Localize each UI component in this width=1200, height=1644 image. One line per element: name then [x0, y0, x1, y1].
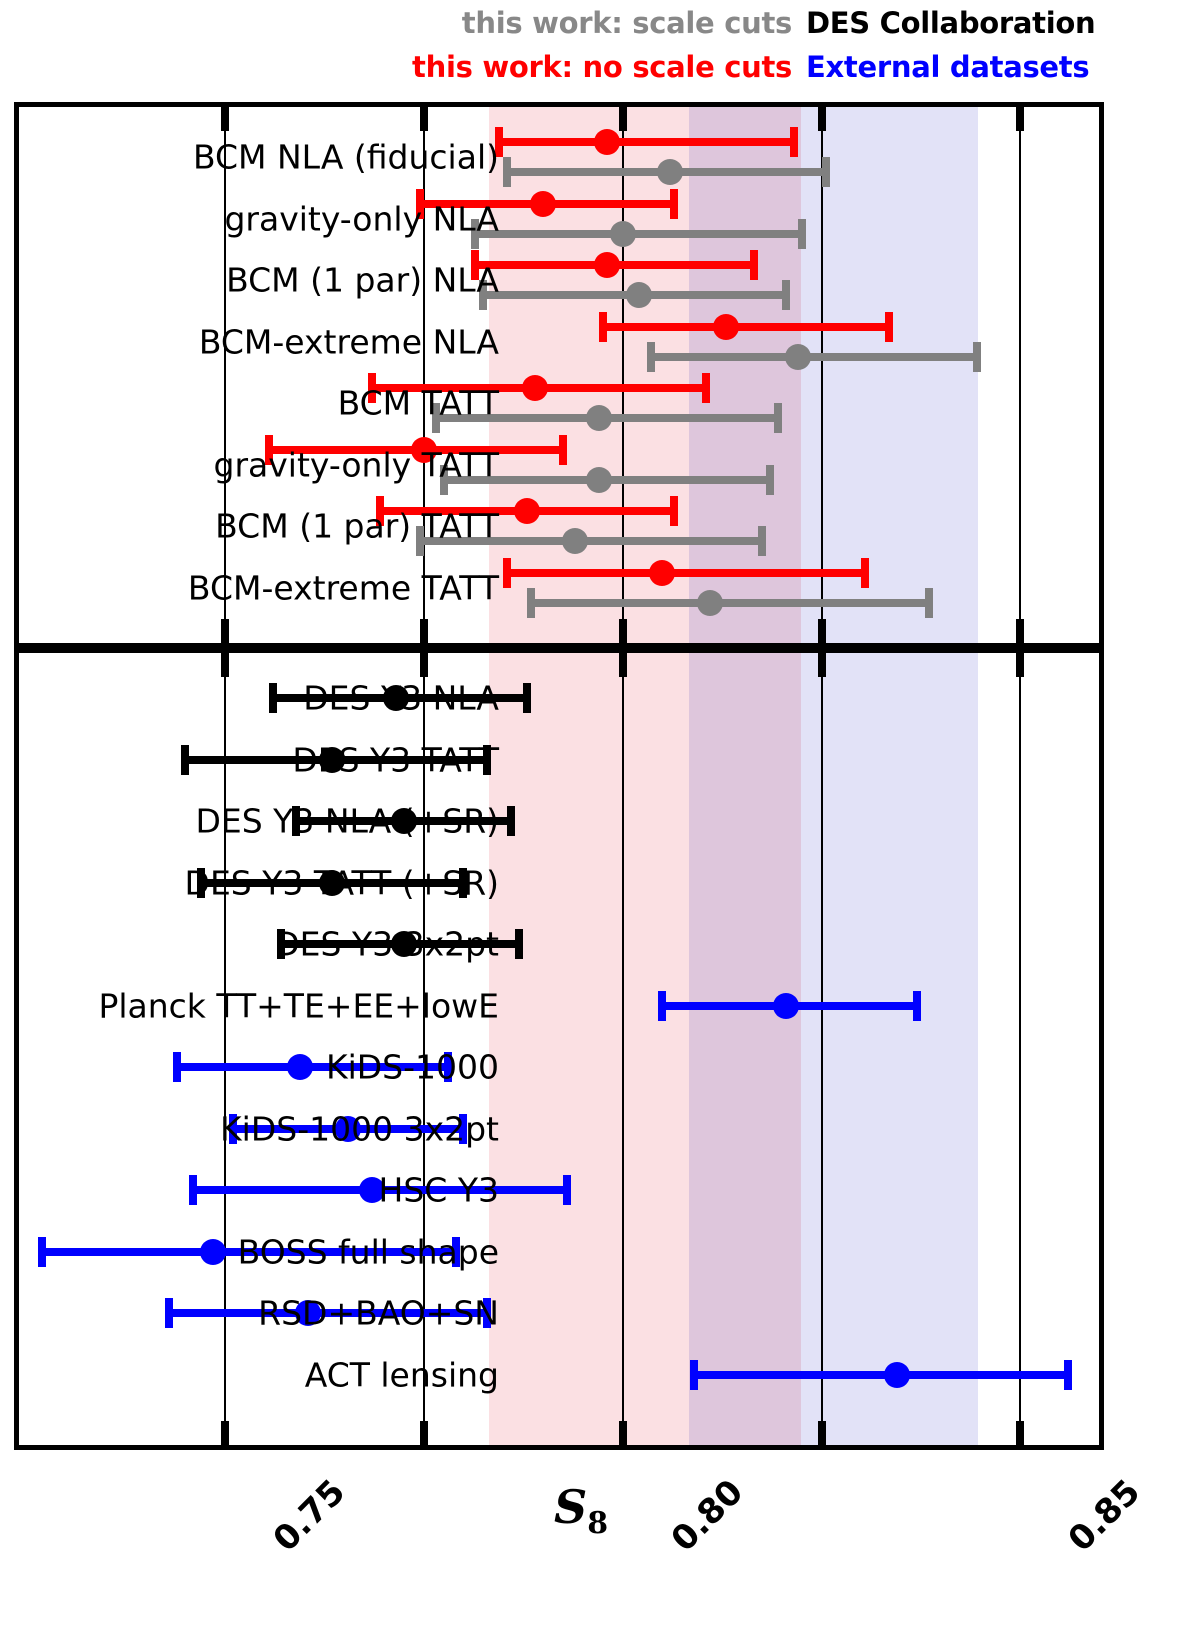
row-label-3: BCM-extreme NLA: [199, 322, 499, 361]
tick-0.775-bottom: [420, 619, 428, 643]
tick-0.8-bottom: [619, 1421, 627, 1445]
x-tick-label-0.80: 0.80: [663, 1472, 751, 1560]
tick-0.85-bottom: [1016, 619, 1024, 643]
x-axis-title-sub: 8: [587, 1506, 608, 1541]
errorbar-cap-low: [173, 1052, 181, 1082]
errorbar-cap-high: [559, 435, 567, 465]
tick-0.775-top: [420, 107, 428, 131]
data-point: [586, 405, 612, 431]
errorbar-cap-low: [527, 588, 535, 618]
row-label-lit-5: Planck TT+TE+EE+lowE: [98, 986, 499, 1025]
des-blue-band: [689, 653, 978, 1445]
errorbar-cap-low: [503, 157, 511, 187]
forest-plot-figure: BCM NLA (fiducial)gravity-only NLABCM (1…: [14, 102, 1104, 1450]
row-label-7: BCM-extreme TATT: [188, 568, 499, 607]
errorbar-cap-low: [189, 1175, 197, 1205]
tick-0.75-top: [221, 107, 229, 131]
tick-0.825-top: [818, 107, 826, 131]
errorbar-cap-low: [599, 312, 607, 342]
legend-external-datasets: External datasets: [806, 50, 1089, 84]
row-label-lit-0: DES Y3 NLA: [303, 679, 499, 718]
errorbar-cap-low: [690, 1360, 698, 1390]
errorbar-cap-high: [523, 683, 531, 713]
tick-0.85-bottom: [1016, 1421, 1024, 1445]
errorbar-cap-low: [165, 1298, 173, 1328]
tick-0.825-bottom: [818, 619, 826, 643]
row-label-lit-7: KiDS-1000 3x2pt: [220, 1109, 499, 1148]
errorbar-cap-high: [563, 1175, 571, 1205]
errorbar-cap-low: [647, 342, 655, 372]
row-label-2: BCM (1 par) NLA: [226, 261, 499, 300]
legend-this-work-scale-cuts: this work: scale cuts: [400, 6, 792, 40]
errorbar-line: [647, 353, 981, 361]
tick-0.775-top: [420, 653, 428, 677]
legend: this work: scale cuts this work: no scal…: [0, 0, 1200, 96]
errorbar-cap-high: [702, 373, 710, 403]
row-label-lit-9: BOSS full shape: [238, 1232, 499, 1271]
data-point: [200, 1239, 226, 1265]
tick-0.85-top: [1016, 653, 1024, 677]
errorbar-cap-high: [861, 558, 869, 588]
row-label-lit-6: KiDS-1000: [326, 1048, 499, 1087]
gridline-0.825: [821, 653, 823, 1445]
errorbar-cap-high: [758, 526, 766, 556]
tick-0.825-top: [818, 653, 826, 677]
errorbar-cap-low: [38, 1237, 46, 1267]
plot-surface-this-work: [19, 107, 1099, 643]
errorbar-cap-high: [750, 250, 758, 280]
errorbar-cap-high: [766, 465, 774, 495]
data-point: [594, 252, 620, 278]
row-label-lit-10: RSD+BAO+SN: [258, 1294, 499, 1333]
tick-0.75-bottom: [221, 619, 229, 643]
errorbar-line: [471, 230, 805, 238]
errorbar-cap-low: [269, 683, 277, 713]
legend-des-collaboration: DES Collaboration: [806, 6, 1095, 40]
row-label-0: BCM NLA (fiducial): [193, 138, 499, 177]
data-point: [530, 191, 556, 217]
x-tick-label-0.75: 0.75: [265, 1472, 353, 1560]
errorbar-line: [503, 569, 869, 577]
errorbar-cap-high: [515, 929, 523, 959]
errorbar-cap-high: [1064, 1360, 1072, 1390]
errorbar-cap-high: [885, 312, 893, 342]
des-blue-band: [689, 107, 978, 643]
legend-this-work-no-scale-cuts: this work: no scale cuts: [330, 50, 792, 84]
row-label-1: gravity-only NLA: [224, 199, 499, 238]
gridline-0.75: [224, 107, 226, 643]
tick-0.8-bottom: [619, 619, 627, 643]
row-label-lit-2: DES Y3 NLA (+SR): [195, 802, 499, 841]
data-point: [773, 993, 799, 1019]
data-point: [514, 498, 540, 524]
plot-surface-literature: [19, 653, 1099, 1445]
gridline-0.8: [622, 107, 624, 643]
errorbar-cap-low: [503, 558, 511, 588]
gridline-0.825: [821, 107, 823, 643]
row-label-lit-3: DES Y3 TATT (+SR): [185, 863, 499, 902]
errorbar-cap-high: [507, 806, 515, 836]
errorbar-line: [495, 138, 797, 146]
data-point: [713, 314, 739, 340]
errorbar-line: [690, 1371, 1072, 1379]
row-label-lit-11: ACT lensing: [305, 1355, 499, 1394]
data-point: [562, 528, 588, 554]
errorbar-line: [599, 323, 893, 331]
errorbar-line: [527, 599, 933, 607]
data-point: [697, 590, 723, 616]
tick-0.75-bottom: [221, 1421, 229, 1445]
errorbar-cap-high: [670, 496, 678, 526]
errorbar-cap-high: [798, 219, 806, 249]
tick-0.8-top: [619, 107, 627, 131]
row-label-lit-4: DES Y3 3x2pt: [274, 925, 499, 964]
errorbar-cap-high: [822, 157, 830, 187]
data-point: [594, 129, 620, 155]
data-point: [522, 375, 548, 401]
tick-0.775-bottom: [420, 1421, 428, 1445]
errorbar-cap-low: [181, 745, 189, 775]
data-point: [884, 1362, 910, 1388]
gridline-0.8: [622, 653, 624, 1445]
tick-0.8-top: [619, 653, 627, 677]
errorbar-cap-high: [774, 403, 782, 433]
tick-0.825-bottom: [818, 1421, 826, 1445]
gridline-0.775: [423, 107, 425, 643]
row-label-lit-1: DES Y3 TATT: [292, 740, 499, 779]
x-axis-title: S8: [554, 1480, 608, 1541]
row-label-4: BCM TATT: [338, 384, 499, 423]
data-point: [610, 221, 636, 247]
x-axis: S8 0.750.800.85: [14, 1450, 1104, 1644]
data-point: [626, 282, 652, 308]
errorbar-cap-high: [925, 588, 933, 618]
x-tick-label-0.85: 0.85: [1061, 1472, 1149, 1560]
data-point: [649, 560, 675, 586]
data-point: [586, 467, 612, 493]
errorbar-cap-high: [782, 280, 790, 310]
errorbar-cap-low: [658, 991, 666, 1021]
tick-0.75-top: [221, 653, 229, 677]
gridline-0.75: [224, 653, 226, 1445]
panel-literature: DES Y3 NLADES Y3 TATTDES Y3 NLA (+SR)DES…: [14, 648, 1104, 1450]
row-label-lit-8: HSC Y3: [379, 1171, 499, 1210]
errorbar-cap-high: [973, 342, 981, 372]
data-point: [287, 1054, 313, 1080]
errorbar-cap-high: [790, 127, 798, 157]
x-axis-title-main: S: [554, 1480, 587, 1534]
tick-0.85-top: [1016, 107, 1024, 131]
errorbar-cap-high: [670, 189, 678, 219]
panel-this-work: BCM NLA (fiducial)gravity-only NLABCM (1…: [14, 102, 1104, 648]
errorbar-cap-high: [913, 991, 921, 1021]
gridline-0.85: [1019, 653, 1021, 1445]
row-label-5: gravity-only TATT: [214, 445, 499, 484]
row-label-6: BCM (1 par) TATT: [215, 507, 499, 546]
gridline-0.85: [1019, 107, 1021, 643]
data-point: [785, 344, 811, 370]
